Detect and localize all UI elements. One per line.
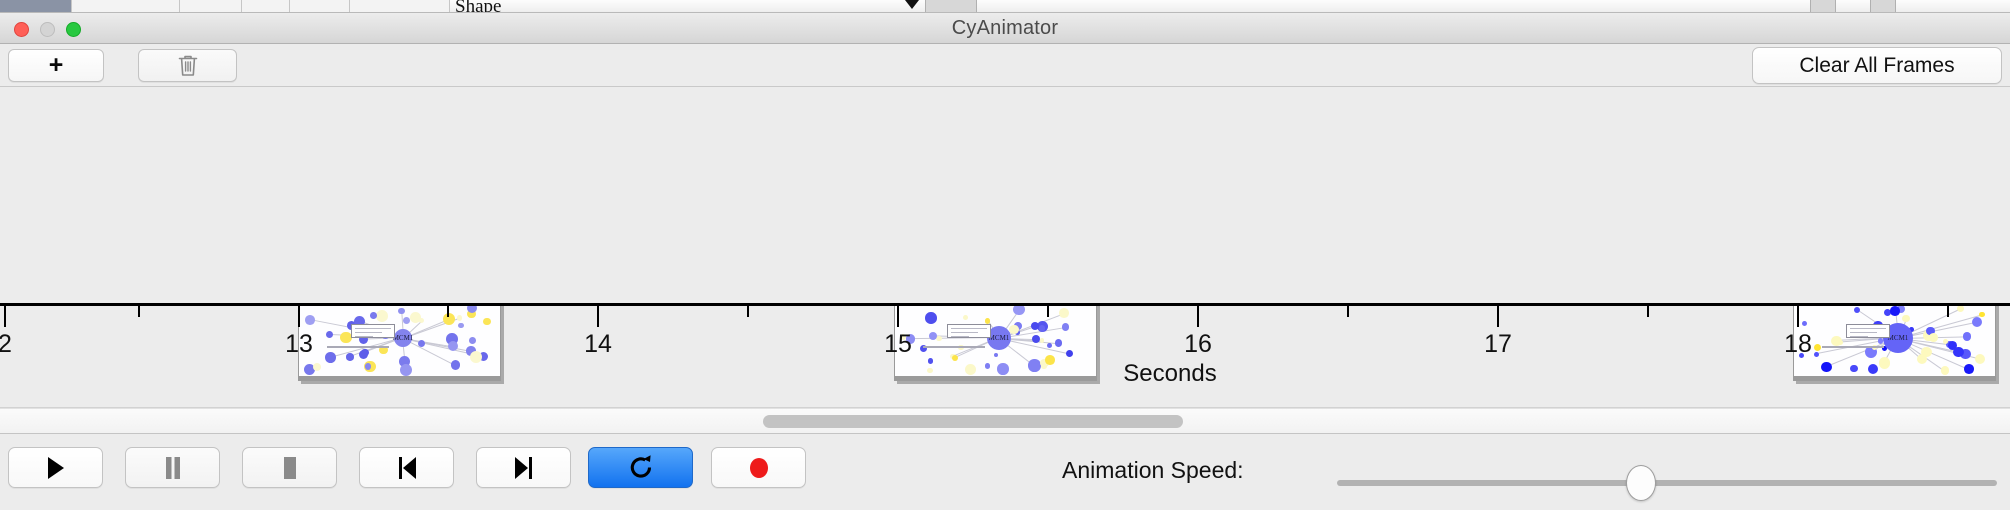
background-window-tab	[180, 0, 242, 13]
tick-label: 17	[1484, 330, 1512, 359]
tick-label: 2	[0, 330, 12, 359]
background-window-chip	[925, 0, 977, 13]
tick-major	[597, 306, 599, 327]
background-window-tab	[242, 0, 290, 13]
background-window-tab-selected	[0, 0, 72, 13]
background-window: Shape	[0, 0, 2010, 13]
animation-speed-slider[interactable]	[1337, 480, 1997, 486]
stop-button[interactable]	[242, 447, 337, 488]
timeline-horizontal-scrollbar[interactable]	[0, 408, 2010, 434]
play-icon	[45, 456, 67, 480]
skip-to-start-button[interactable]	[359, 447, 454, 488]
skip-forward-icon	[513, 456, 535, 480]
play-button[interactable]	[8, 447, 103, 488]
timeline-axis-title: Seconds	[0, 360, 2010, 388]
stop-icon	[280, 456, 300, 480]
tick-label: 15	[884, 330, 912, 359]
delete-frame-button[interactable]	[138, 49, 237, 82]
plus-icon: +	[49, 53, 64, 78]
tick-major	[4, 306, 6, 327]
tick-minor	[1647, 306, 1649, 317]
tick-minor	[747, 306, 749, 317]
background-window-caret-icon	[905, 0, 919, 9]
axis-title-text: Seconds	[1123, 360, 1216, 387]
titlebar: CyAnimator	[0, 13, 2010, 44]
skip-backward-icon	[396, 456, 418, 480]
clear-all-frames-button[interactable]: Clear All Frames	[1752, 47, 2002, 84]
background-window-tab	[72, 0, 180, 13]
tick-major	[897, 306, 899, 327]
background-window-chip	[1810, 0, 1836, 13]
animation-speed-slider-thumb[interactable]	[1626, 465, 1656, 501]
pause-icon	[163, 456, 183, 480]
trash-icon	[178, 54, 198, 77]
tick-major	[1497, 306, 1499, 327]
tick-label: 13	[285, 330, 313, 359]
record-icon	[747, 456, 771, 480]
background-window-tab	[350, 0, 450, 13]
tick-major	[1797, 306, 1799, 327]
loop-button[interactable]	[588, 447, 693, 488]
tick-label: 16	[1184, 330, 1212, 359]
timeline-ruler[interactable]: 2131415161718	[0, 303, 2010, 403]
add-frame-button[interactable]: +	[8, 49, 104, 82]
toolbar: + Clear All Frames	[0, 44, 2010, 87]
loop-icon	[628, 454, 654, 481]
timeline-panel[interactable]: MCM1MCM1MCM1 2131415161718 Seconds	[0, 88, 2010, 408]
tick-minor	[447, 306, 449, 317]
background-window-tab	[290, 0, 350, 13]
background-window-label: Shape	[455, 0, 501, 13]
tick-minor	[1347, 306, 1349, 317]
skip-to-end-button[interactable]	[476, 447, 571, 488]
tick-label: 14	[584, 330, 612, 359]
tick-major	[298, 306, 300, 327]
tick-minor	[138, 306, 140, 317]
background-window-chip	[1870, 0, 1896, 13]
tick-major	[1197, 306, 1199, 327]
transport-bar: Animation Speed:	[0, 435, 2010, 510]
animation-speed-label: Animation Speed:	[1062, 457, 1244, 484]
tick-minor	[1947, 306, 1949, 317]
pause-button[interactable]	[125, 447, 220, 488]
record-button[interactable]	[711, 447, 806, 488]
tick-label: 18	[1784, 330, 1812, 359]
tick-minor	[1047, 306, 1049, 317]
window-title: CyAnimator	[0, 13, 2010, 44]
scrollbar-thumb[interactable]	[763, 415, 1183, 428]
